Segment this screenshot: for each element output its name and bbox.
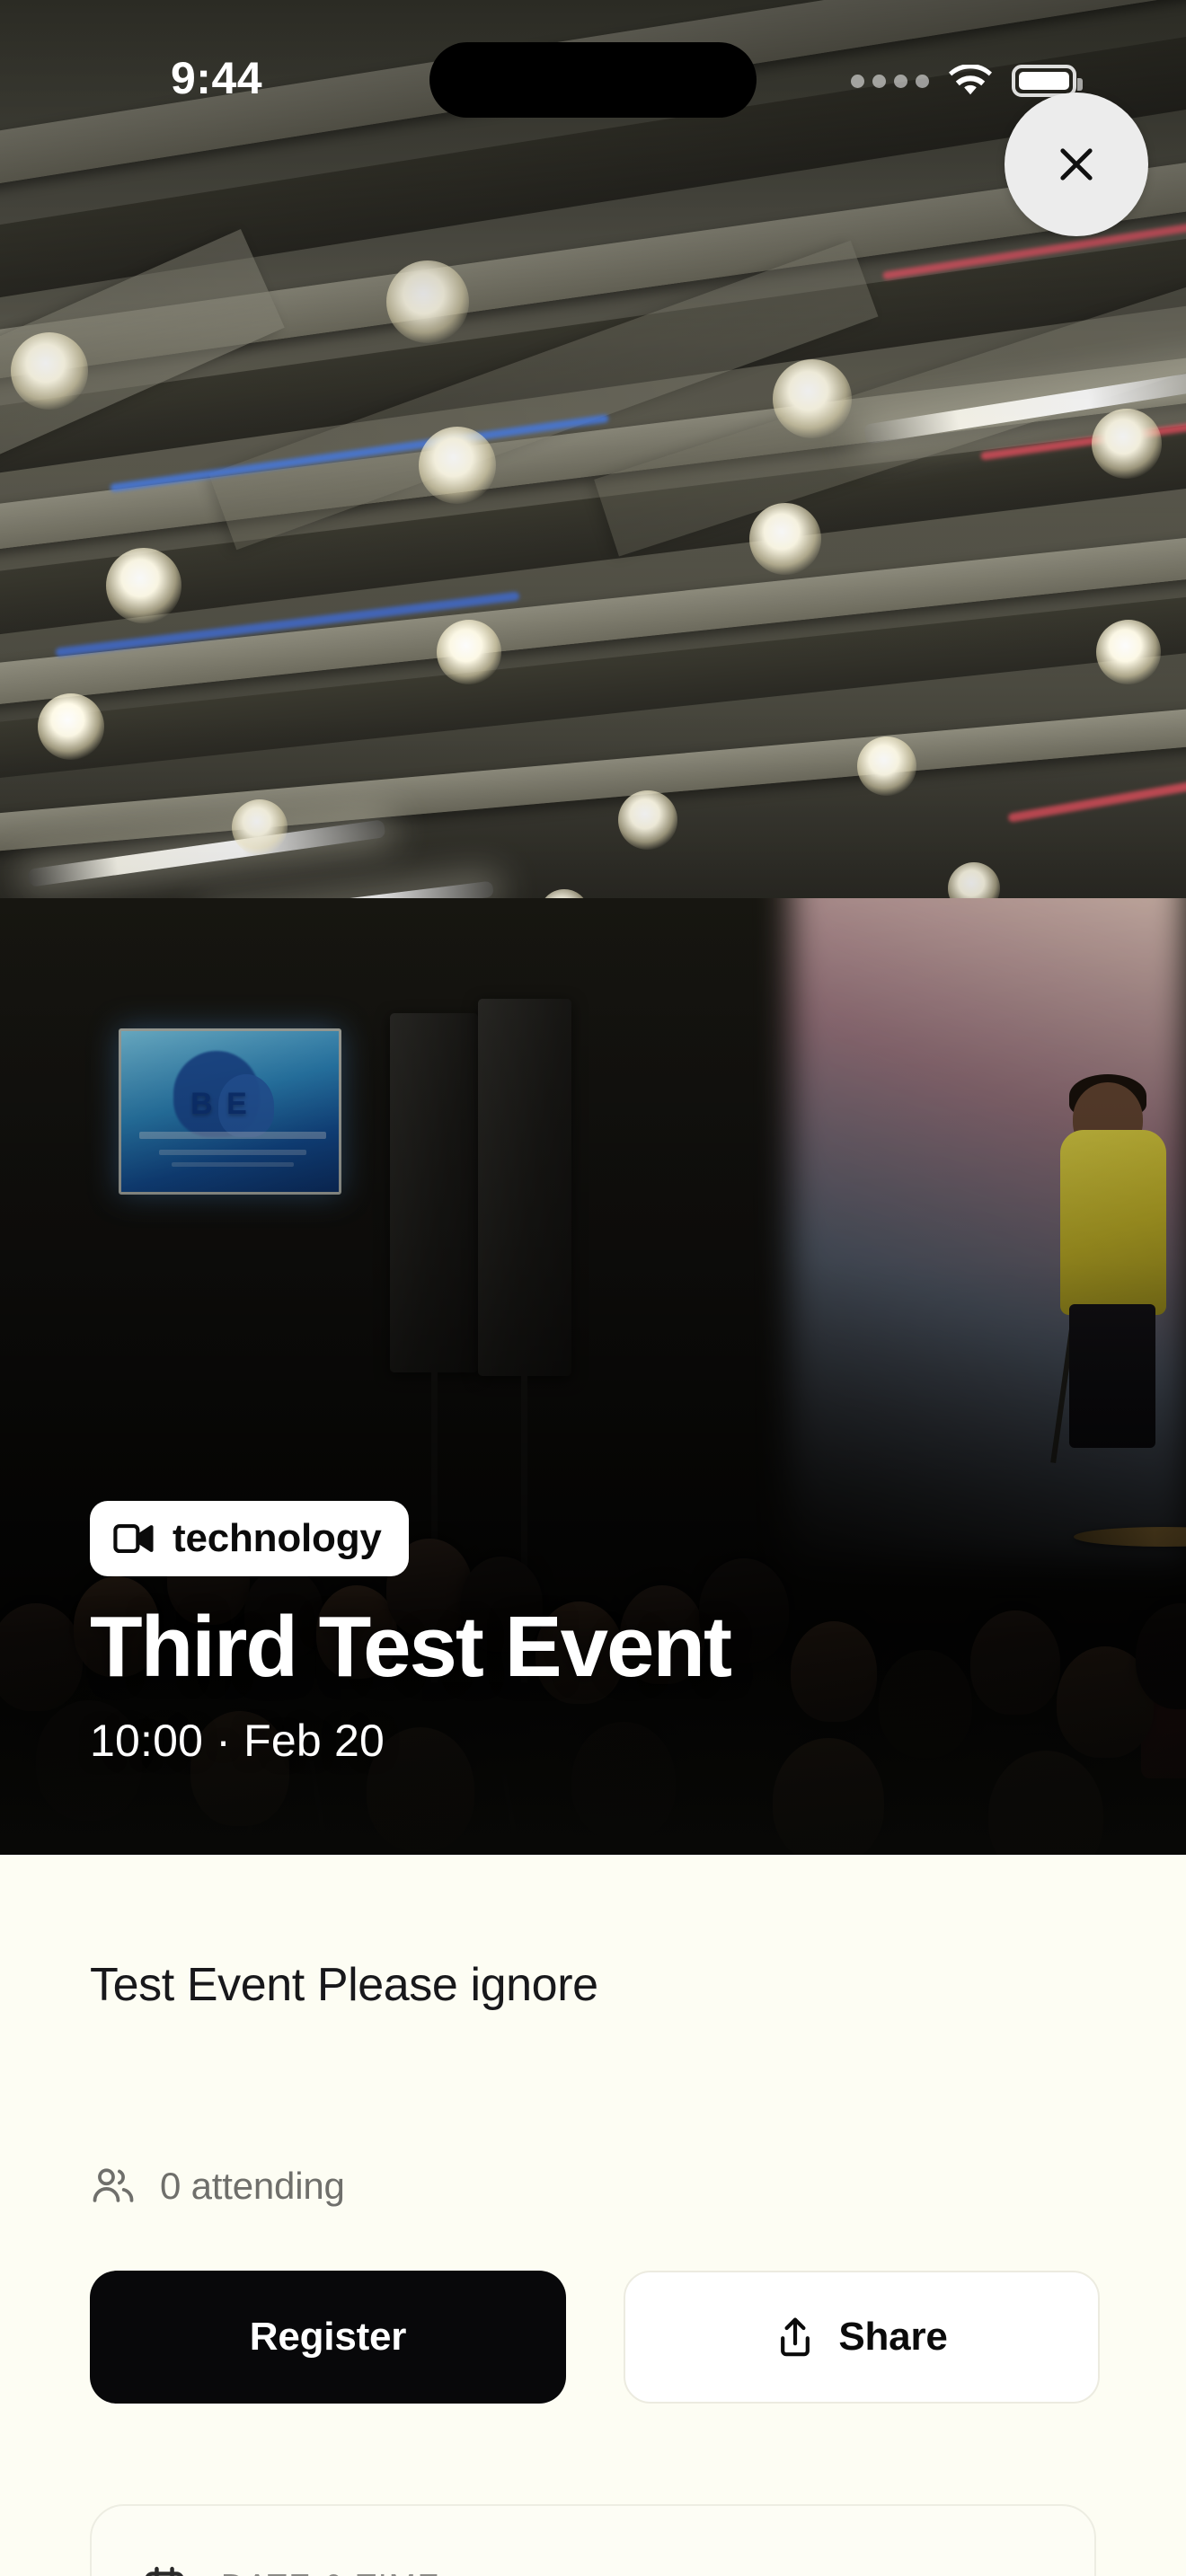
attendee-count-label: 0 attending <box>160 2165 345 2208</box>
share-button-label: Share <box>838 2315 947 2360</box>
status-time: 9:44 <box>171 52 262 104</box>
register-button-label: Register <box>250 2315 406 2360</box>
calendar-icon <box>142 2565 187 2576</box>
register-button[interactable]: Register <box>90 2271 566 2404</box>
signal-dots-icon <box>851 75 929 88</box>
battery-full-icon <box>1012 65 1076 97</box>
dynamic-island <box>429 42 757 118</box>
event-hero-image: B E <box>0 0 1186 1855</box>
status-bar: 9:44 <box>0 0 1186 157</box>
video-camera-icon <box>113 1523 155 1554</box>
status-indicators <box>851 65 1076 97</box>
action-buttons: Register Share <box>90 2271 1096 2404</box>
share-icon <box>775 2316 815 2359</box>
event-title: Third Test Event <box>90 1601 1123 1693</box>
wifi-icon <box>949 65 992 97</box>
close-button[interactable] <box>1005 93 1148 236</box>
close-icon <box>1051 139 1102 190</box>
event-details-content: Test Event Please ignore 0 attending Reg… <box>0 1855 1186 2576</box>
share-button[interactable]: Share <box>624 2271 1100 2404</box>
event-category-badge[interactable]: technology <box>90 1501 409 1576</box>
event-detail-screen: B E <box>0 0 1186 2576</box>
event-time-date: 10:00 · Feb 20 <box>90 1715 1123 1767</box>
event-description: Test Event Please ignore <box>90 1955 1096 2016</box>
attendee-count-row: 0 attending <box>90 2165 1186 2208</box>
date-time-card[interactable]: DATE & TIME 2026-02-20 <box>90 2504 1096 2576</box>
date-time-card-label: DATE & TIME <box>221 2567 464 2576</box>
users-icon <box>90 2166 137 2207</box>
event-category-label: technology <box>173 1516 382 1561</box>
hero-overlay-text: technology Third Test Event 10:00 · Feb … <box>90 1501 1123 1767</box>
